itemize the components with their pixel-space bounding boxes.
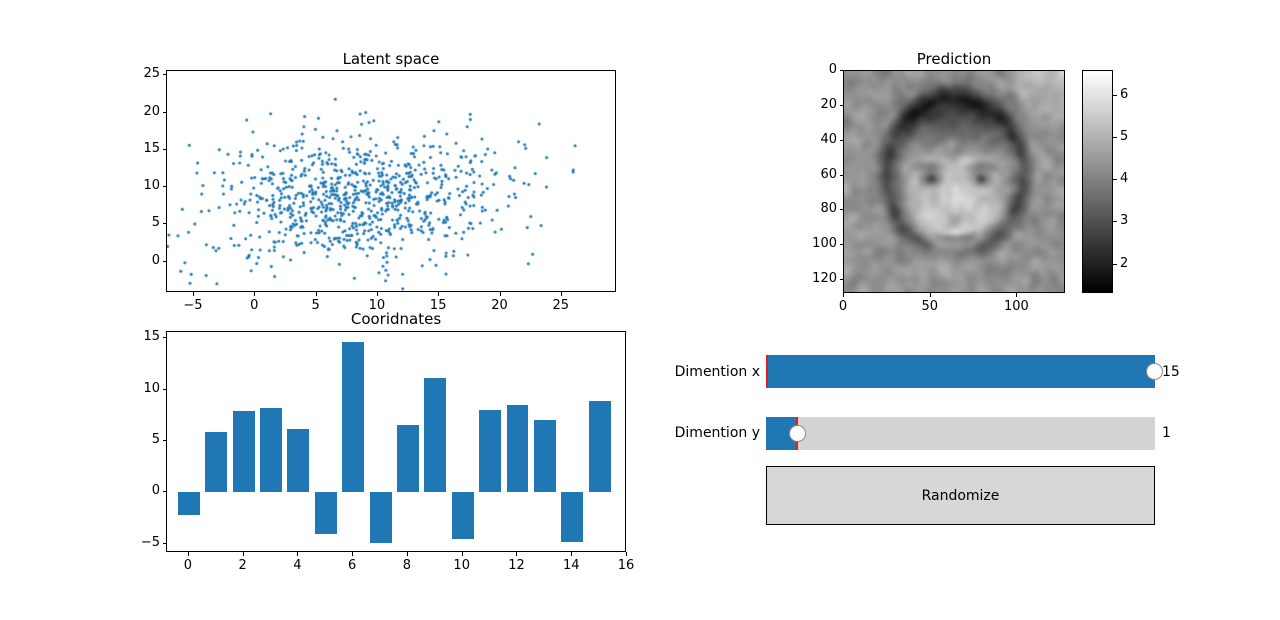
slider-x-init-marker <box>766 355 768 388</box>
tick-mark <box>1113 137 1117 138</box>
slider-y-track[interactable] <box>766 417 1155 450</box>
tick-mark <box>462 552 463 556</box>
tick-label: 2 <box>1120 256 1128 271</box>
bar <box>589 401 611 492</box>
tick-label: 5 <box>114 432 160 447</box>
tick-label: 10 <box>437 558 487 573</box>
bar <box>397 425 419 493</box>
tick-mark <box>188 552 189 556</box>
bar <box>479 410 501 492</box>
bar <box>370 492 392 542</box>
tick-mark <box>193 292 194 296</box>
tick-label: −5 <box>114 535 160 550</box>
tick-mark <box>163 543 167 544</box>
tick-mark <box>163 223 167 224</box>
tick-label: 3 <box>1120 213 1128 228</box>
bar <box>205 432 227 492</box>
tick-label: 0 <box>163 558 213 573</box>
bar <box>260 408 282 492</box>
bar <box>507 405 529 492</box>
tick-label: 60 <box>791 167 837 182</box>
tick-mark <box>254 292 255 296</box>
prediction-image <box>844 71 1064 292</box>
slider-y-handle[interactable] <box>789 425 806 442</box>
tick-label: 0 <box>114 253 160 268</box>
slider-y-value: 1 <box>1162 425 1171 441</box>
tick-mark <box>1016 293 1017 297</box>
tick-label: 15 <box>114 329 160 344</box>
tick-label: 20 <box>791 97 837 112</box>
bar <box>233 411 255 492</box>
tick-label: 100 <box>791 236 837 251</box>
tick-mark <box>438 292 439 296</box>
slider-x-track[interactable] <box>766 355 1155 388</box>
slider-x-handle[interactable] <box>1146 363 1163 380</box>
latent-space-title: Latent space <box>166 50 616 68</box>
tick-mark <box>840 279 844 280</box>
tick-mark <box>840 140 844 141</box>
tick-label: 10 <box>114 178 160 193</box>
slider-y-label: Dimention y <box>600 425 760 441</box>
colorbar-gradient <box>1083 71 1112 292</box>
tick-label: 0 <box>791 62 837 77</box>
prediction-image-axes <box>843 70 1065 293</box>
tick-mark <box>516 552 517 556</box>
tick-label: 0 <box>114 483 160 498</box>
tick-mark <box>930 293 931 297</box>
tick-label: 5 <box>1120 129 1128 144</box>
bar <box>342 342 364 492</box>
tick-mark <box>571 552 572 556</box>
tick-mark <box>377 292 378 296</box>
tick-label: 50 <box>905 299 955 314</box>
tick-mark <box>163 149 167 150</box>
slider-x-value: 15 <box>1162 364 1180 380</box>
latent-space-scatter <box>167 71 615 291</box>
tick-label: 8 <box>382 558 432 573</box>
tick-label: 120 <box>791 271 837 286</box>
coordinates-title: Cooridnates <box>166 310 626 328</box>
tick-mark <box>163 491 167 492</box>
tick-label: 16 <box>601 558 651 573</box>
tick-label: 40 <box>791 132 837 147</box>
slider-x-fill <box>766 355 1155 388</box>
tick-mark <box>561 292 562 296</box>
tick-mark <box>163 389 167 390</box>
tick-mark <box>316 292 317 296</box>
tick-label: 4 <box>272 558 322 573</box>
tick-mark <box>840 175 844 176</box>
tick-mark <box>243 552 244 556</box>
tick-mark <box>840 244 844 245</box>
tick-mark <box>840 209 844 210</box>
bar <box>424 378 446 493</box>
bar <box>287 429 309 492</box>
tick-label: 2 <box>218 558 268 573</box>
tick-label: 6 <box>1120 87 1128 102</box>
randomize-button[interactable]: Randomize <box>766 466 1155 525</box>
tick-label: 10 <box>114 381 160 396</box>
tick-mark <box>163 112 167 113</box>
tick-mark <box>840 70 844 71</box>
tick-mark <box>1113 264 1117 265</box>
tick-label: 80 <box>791 201 837 216</box>
tick-mark <box>297 552 298 556</box>
coordinates-axes <box>166 331 626 552</box>
tick-mark <box>407 552 408 556</box>
tick-label: 14 <box>546 558 596 573</box>
tick-mark <box>163 261 167 262</box>
tick-mark <box>840 105 844 106</box>
prediction-title: Prediction <box>843 50 1065 68</box>
tick-label: 12 <box>491 558 541 573</box>
bar <box>561 492 583 542</box>
latent-space-axes <box>166 70 616 292</box>
tick-mark <box>163 440 167 441</box>
tick-mark <box>352 552 353 556</box>
tick-mark <box>163 186 167 187</box>
colorbar <box>1082 70 1113 293</box>
tick-mark <box>626 552 627 556</box>
bar <box>534 420 556 492</box>
tick-label: 20 <box>114 104 160 119</box>
tick-label: 100 <box>991 299 1041 314</box>
tick-label: 15 <box>114 141 160 156</box>
tick-label: 6 <box>327 558 377 573</box>
slider-x-label: Dimention x <box>600 364 760 380</box>
tick-mark <box>1113 95 1117 96</box>
tick-mark <box>843 293 844 297</box>
tick-label: 0 <box>818 299 868 314</box>
bar <box>452 492 474 538</box>
tick-mark <box>1113 221 1117 222</box>
bar <box>315 492 337 534</box>
tick-label: 4 <box>1120 171 1128 186</box>
bar <box>178 492 200 515</box>
tick-mark <box>1113 179 1117 180</box>
tick-mark <box>500 292 501 296</box>
tick-label: 5 <box>114 215 160 230</box>
tick-mark <box>163 74 167 75</box>
tick-label: 25 <box>114 66 160 81</box>
tick-mark <box>163 337 167 338</box>
